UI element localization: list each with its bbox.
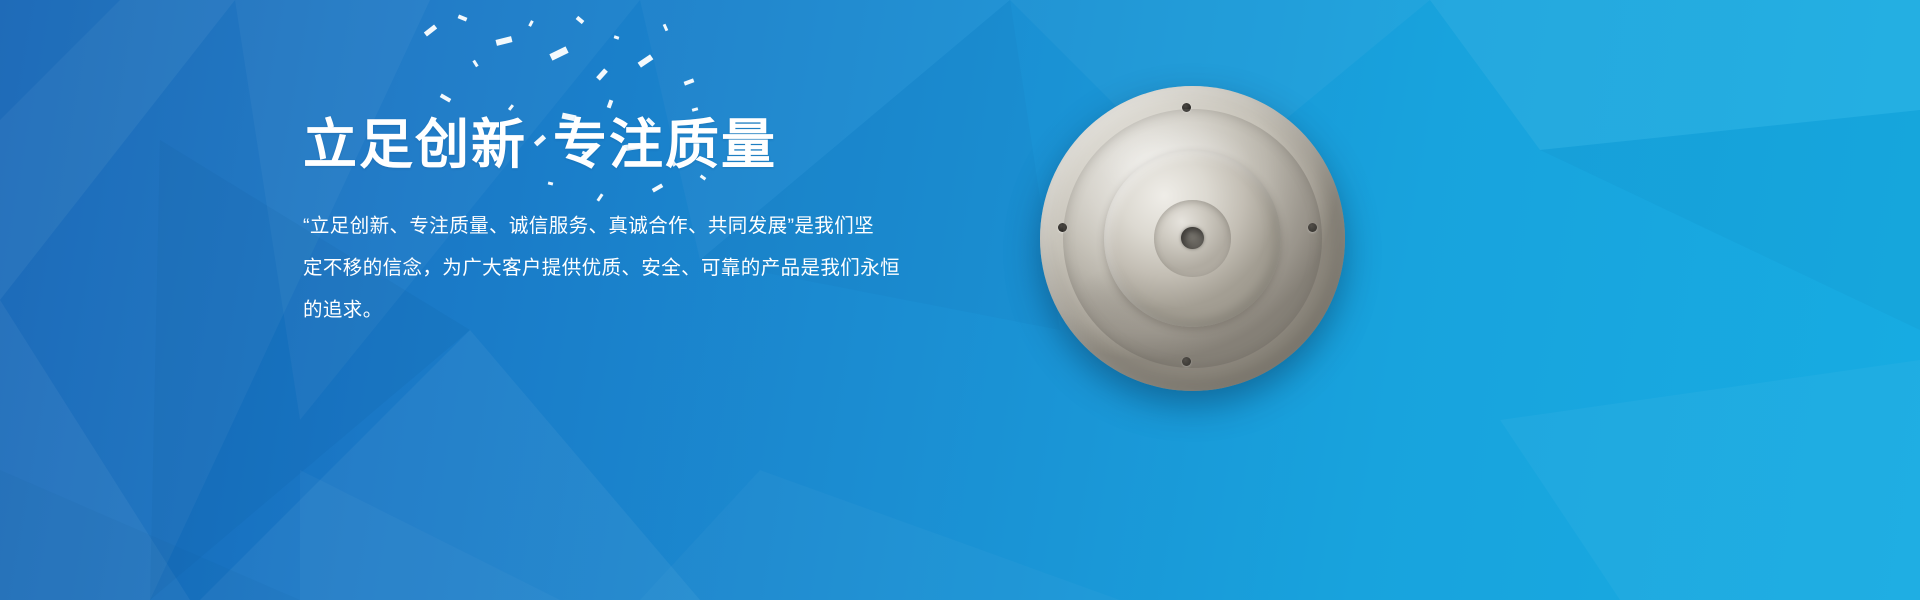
flange-boss xyxy=(1104,150,1281,327)
page-title: 立足创新专注质量 xyxy=(303,112,777,178)
flange-outer-disc xyxy=(1040,86,1345,391)
product-image xyxy=(1040,86,1345,391)
headline-part-2: 专注质量 xyxy=(553,115,777,175)
hero-banner: 立足创新专注质量 “立足创新、专注质量、诚信服务、真诚合作、共同发展”是我们坚 … xyxy=(0,0,1920,600)
description-line: 的追求。 xyxy=(303,289,953,331)
description-line: 定不移的信念，为广大客户提供优质、安全、可靠的产品是我们永恒 xyxy=(303,247,953,289)
flange-step xyxy=(1154,200,1230,276)
banner-description: “立足创新、专注质量、诚信服务、真诚合作、共同发展”是我们坚 定不移的信念，为广… xyxy=(303,205,953,331)
facet-svg xyxy=(0,0,1920,600)
flange-center-bore xyxy=(1181,227,1203,249)
headline-part-1: 立足创新 xyxy=(303,115,527,175)
description-line: “立足创新、专注质量、诚信服务、真诚合作、共同发展”是我们坚 xyxy=(303,205,953,247)
background-facets xyxy=(0,0,1920,600)
